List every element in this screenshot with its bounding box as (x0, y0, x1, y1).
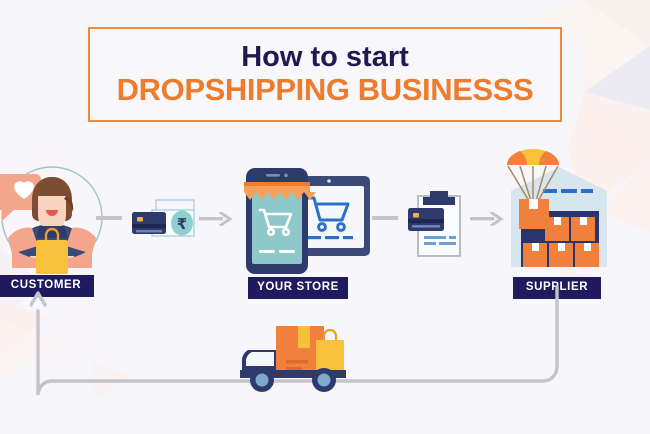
infographic-canvas: How to start DROPSHIPPING BUSINESSS (0, 0, 650, 434)
title-line-1: How to start (241, 42, 409, 72)
warehouse-with-parachute-box-icon (495, 143, 623, 273)
title-line-2: DROPSHIPPING BUSINESSS (117, 74, 534, 107)
connector-dash-customer-to-payment (96, 212, 126, 224)
clipboard-order-with-card-icon (404, 190, 470, 260)
delivery-truck-icon (240, 318, 360, 396)
credit-card-rupee-payment-icon: ₹ (128, 198, 198, 250)
rupee-symbol: ₹ (177, 215, 187, 233)
online-store-phone-and-tablet-icon (228, 160, 374, 276)
title-box: How to start DROPSHIPPING BUSINESSS (88, 27, 562, 122)
connector-dash-store-to-order (372, 212, 402, 224)
